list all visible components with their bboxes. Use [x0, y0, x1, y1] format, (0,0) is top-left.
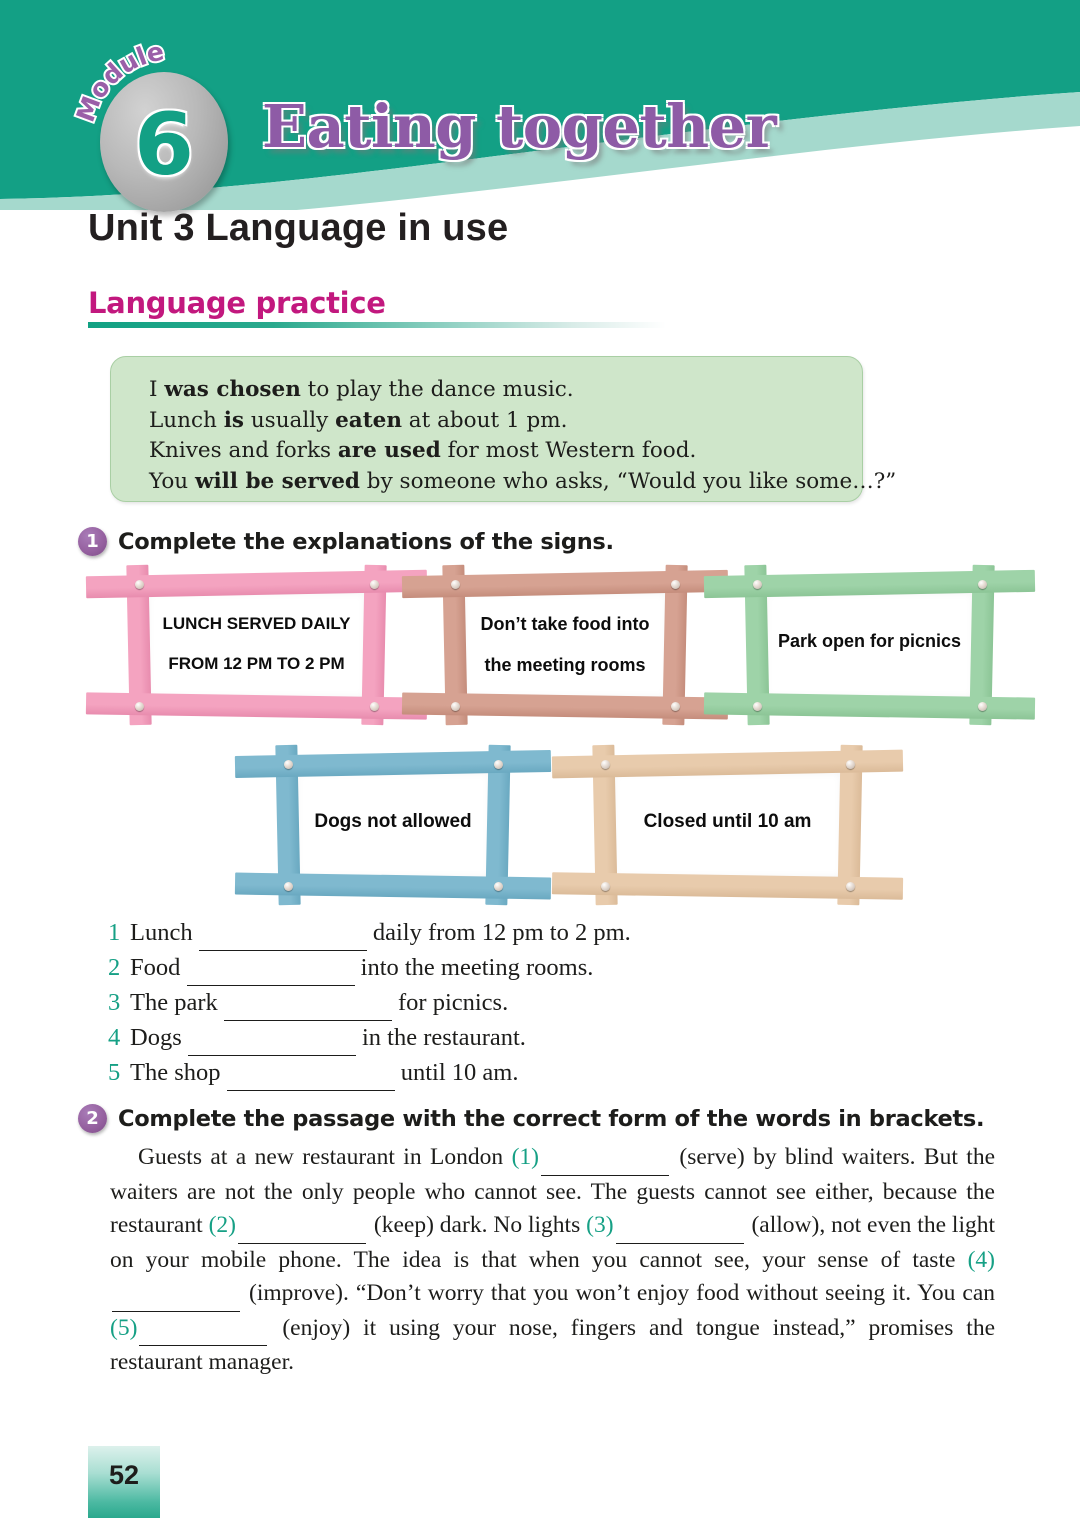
sign-frame-screw — [846, 760, 855, 769]
sign-frame-screw — [451, 580, 460, 589]
sign-frame-screw — [451, 702, 460, 711]
exercise-1-title: Complete the explanations of the signs. — [118, 529, 614, 555]
question-number: 5 — [108, 1056, 130, 1090]
sign-text-line: LUNCH SERVED DAILY — [104, 615, 409, 633]
passage-blank[interactable] — [139, 1312, 267, 1347]
exercise-1-heading: 1 Complete the explanations of the signs… — [78, 527, 614, 556]
answer-blank[interactable] — [224, 986, 392, 1021]
question-number: 2 — [108, 951, 130, 985]
sign-lunch: LUNCH SERVED DAILYFROM 12 PM TO 2 PM — [104, 565, 409, 725]
question-row: 2Food into the meeting rooms. — [108, 951, 808, 986]
answer-blank[interactable] — [199, 916, 367, 951]
page-number: 52 — [88, 1460, 160, 1491]
sign-text: LUNCH SERVED DAILYFROM 12 PM TO 2 PM — [104, 615, 409, 673]
exercise-2-title: Complete the passage with the correct fo… — [118, 1106, 984, 1132]
module-badge: Module 6 — [78, 24, 250, 214]
sign-frame-screw — [494, 760, 503, 769]
gap-number: (1) — [512, 1144, 539, 1170]
sign-frame-screw — [671, 580, 680, 589]
sign-text-line: FROM 12 PM TO 2 PM — [104, 655, 409, 673]
passage-blank[interactable] — [616, 1209, 744, 1244]
grammar-example-box: I was chosen to play the dance music.Lun… — [110, 356, 863, 502]
sign-frame-screw — [370, 702, 379, 711]
sign-text: Don’t take food intothe meeting rooms — [420, 615, 710, 675]
exercise-1-question-list: 1Lunch daily from 12 pm to 2 pm.2Food in… — [108, 916, 808, 1091]
question-row: 3The park for picnics. — [108, 986, 808, 1021]
sign-frame-screw — [494, 882, 503, 891]
sign-frame-screw — [135, 580, 144, 589]
passage-blank[interactable] — [541, 1141, 669, 1176]
sign-dogs: Dogs not allowed — [253, 745, 533, 905]
language-practice-section: Language practice — [88, 286, 678, 328]
sign-frame-screw — [601, 760, 610, 769]
gap-number: (5) — [110, 1315, 137, 1341]
sign-text: Park open for picnics — [722, 632, 1017, 651]
question-number: 4 — [108, 1021, 130, 1055]
answer-blank[interactable] — [227, 1056, 395, 1091]
sign-frame-screw — [753, 702, 762, 711]
module-number: 6 — [78, 24, 250, 214]
sign-park: Park open for picnics — [722, 565, 1017, 725]
exercise-2-number: 2 — [78, 1104, 107, 1133]
gap-number: (4) — [968, 1247, 995, 1273]
question-row: 1Lunch daily from 12 pm to 2 pm. — [108, 916, 808, 951]
section-title: Language practice — [88, 286, 678, 320]
sign-frame-screw — [846, 882, 855, 891]
exercise-1-number: 1 — [78, 527, 107, 556]
sign-frame-screw — [671, 702, 680, 711]
grammar-example-line: You will be served by someone who asks, … — [149, 467, 862, 498]
grammar-example-line: I was chosen to play the dance music. — [149, 375, 862, 406]
sign-text-line: Park open for picnics — [722, 632, 1017, 651]
sign-frame-screw — [753, 580, 762, 589]
unit-heading: Unit 3 Language in use — [88, 207, 508, 250]
grammar-example-line: Knives and forks are used for most Weste… — [149, 436, 862, 467]
question-row: 5The shop until 10 am. — [108, 1056, 808, 1091]
question-number: 1 — [108, 916, 130, 950]
answer-blank[interactable] — [187, 951, 355, 986]
module-title: Eating together — [262, 92, 776, 161]
sign-text-line: the meeting rooms — [420, 656, 710, 675]
sign-text: Closed until 10 am — [570, 812, 885, 832]
sign-frame-screw — [135, 702, 144, 711]
sign-text-line: Dogs not allowed — [253, 812, 533, 832]
sign-frame-screw — [978, 702, 987, 711]
sign-frame-screw — [978, 580, 987, 589]
sign-frame-screw — [284, 760, 293, 769]
sign-no-food: Don’t take food intothe meeting rooms — [420, 565, 710, 725]
sign-closed: Closed until 10 am — [570, 745, 885, 905]
gap-number: (2) — [209, 1212, 236, 1238]
sign-text-line: Closed until 10 am — [570, 812, 885, 832]
question-row: 4Dogs in the restaurant. — [108, 1021, 808, 1056]
sign-frame-screw — [370, 580, 379, 589]
passage-blank[interactable] — [238, 1209, 366, 1244]
sign-frame-screw — [601, 882, 610, 891]
sign-text-line: Don’t take food into — [420, 615, 710, 634]
page-footer-block: 52 — [88, 1446, 160, 1518]
answer-blank[interactable] — [188, 1021, 356, 1056]
exercise-2-passage: Guests at a new restaurant in London (1)… — [110, 1141, 995, 1380]
question-number: 3 — [108, 986, 130, 1020]
passage-blank[interactable] — [112, 1277, 240, 1312]
section-divider — [88, 322, 666, 328]
sign-text: Dogs not allowed — [253, 812, 533, 832]
gap-number: (3) — [586, 1212, 613, 1238]
exercise-2-heading: 2 Complete the passage with the correct … — [78, 1104, 984, 1133]
grammar-example-line: Lunch is usually eaten at about 1 pm. — [149, 406, 862, 437]
sign-frame-screw — [284, 882, 293, 891]
sign-gallery: LUNCH SERVED DAILYFROM 12 PM TO 2 PMDon’… — [0, 560, 1080, 910]
